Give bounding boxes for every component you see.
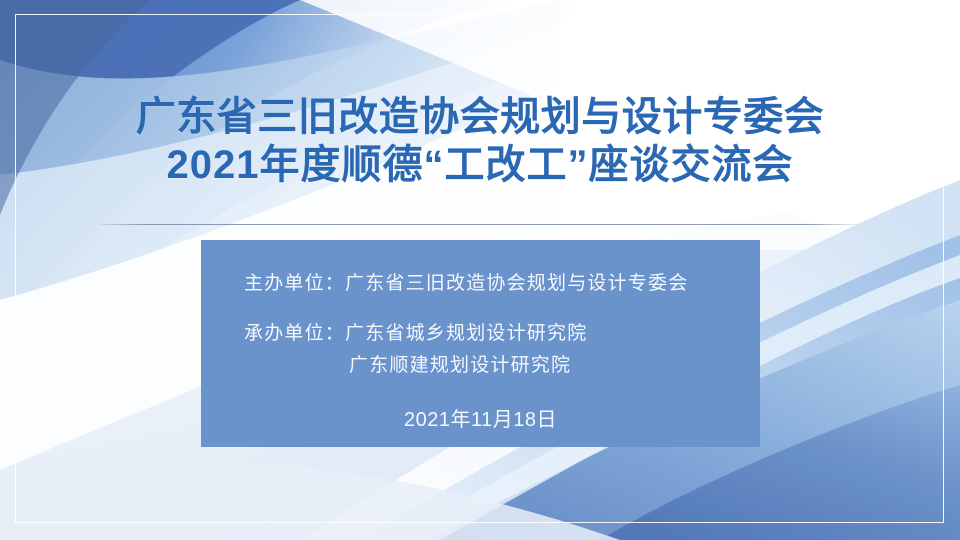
presentation-slide: 广东省三旧改造协会规划与设计专委会 2021年度顺德“工改工”座谈交流会 主办单… — [0, 0, 960, 540]
organizing-unit-label-secondary: 广东顺建规划设计研究院 — [349, 350, 571, 377]
title-divider — [100, 224, 856, 225]
host-organization-label: 主办单位：广东省三旧改造协会规划与设计专委会 — [244, 268, 688, 295]
title-line-2: 2021年度顺德“工改工”座谈交流会 — [0, 144, 960, 186]
event-date: 2021年11月18日 — [201, 403, 760, 432]
organizing-unit-label: 承办单位：广东省城乡规划设计研究院 — [244, 318, 587, 345]
page-title: 广东省三旧改造协会规划与设计专委会 2021年度顺德“工改工”座谈交流会 — [0, 96, 960, 187]
title-line-1: 广东省三旧改造协会规划与设计专委会 — [0, 96, 960, 138]
event-info-panel: 主办单位：广东省三旧改造协会规划与设计专委会 承办单位：广东省城乡规划设计研究院… — [201, 240, 760, 447]
